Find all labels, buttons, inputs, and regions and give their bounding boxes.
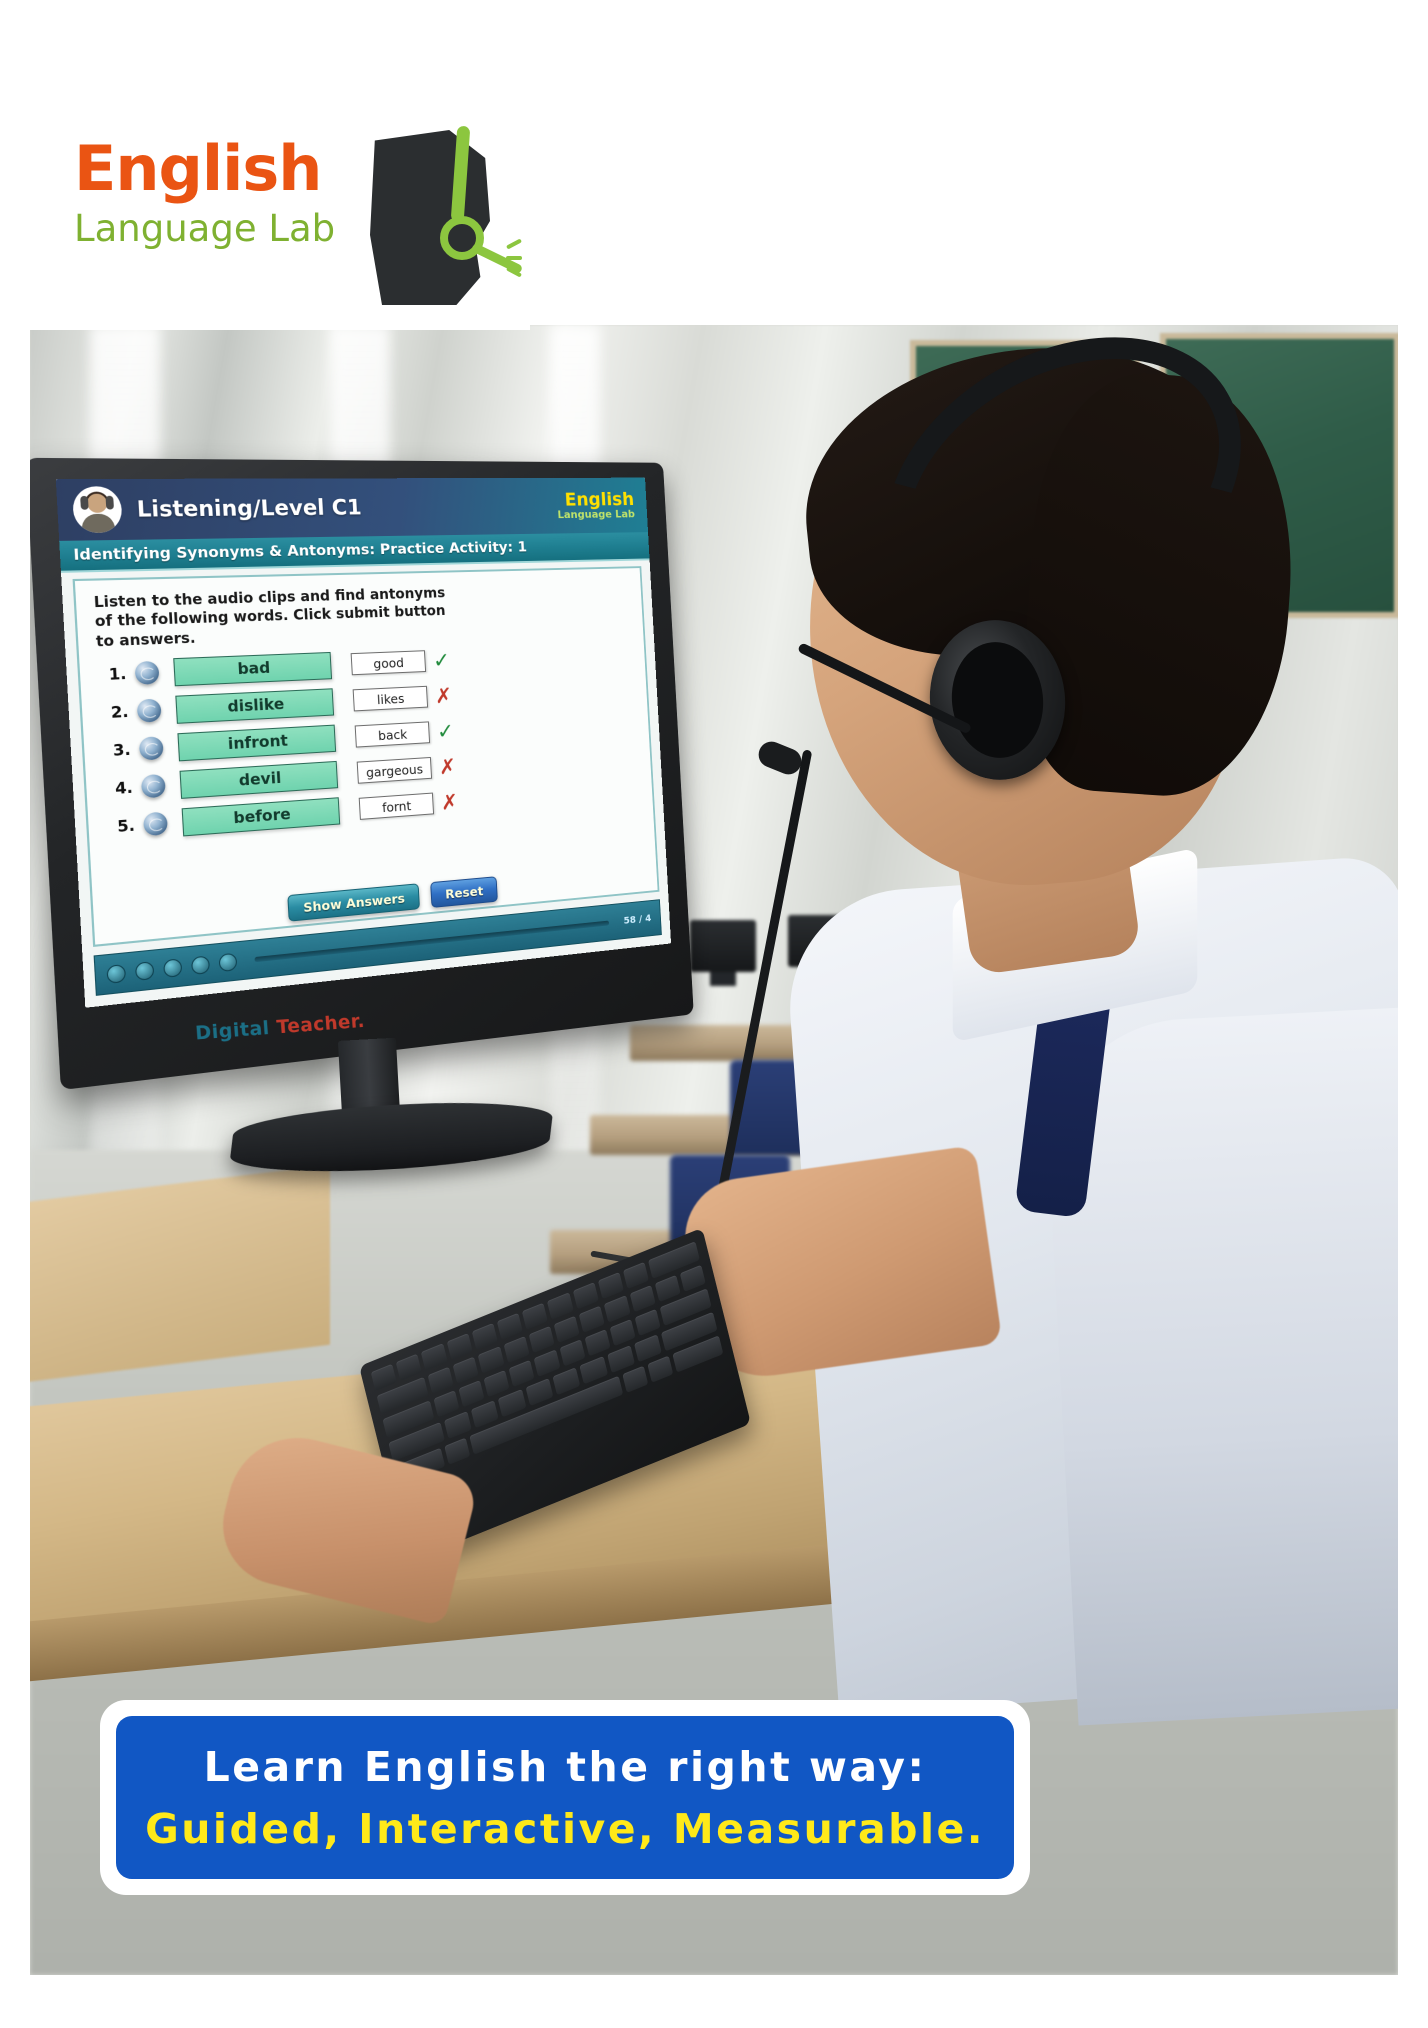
- tagline-line-2: Guided, Interactive, Measurable.: [145, 1805, 985, 1853]
- audio-play-globe-icon[interactable]: [143, 812, 168, 837]
- prompt-word: infront: [177, 724, 336, 761]
- player-progress-slider[interactable]: [254, 920, 608, 962]
- question-number: 3.: [102, 740, 132, 761]
- prompt-word: bad: [173, 652, 332, 686]
- tagline-banner-wrapper: Learn English the right way: Guided, Int…: [100, 1700, 1030, 1895]
- app-logo-line1: English: [556, 491, 634, 510]
- question-list: 1. bad good ✓ 2. dislike likes: [97, 636, 641, 847]
- monitor-screen: Listening/Level C1 English Language Lab …: [56, 478, 671, 1008]
- result-cross-icon: ✗: [439, 756, 457, 778]
- question-number: 2.: [100, 703, 130, 723]
- action-buttons: Show Answers Reset: [287, 876, 498, 922]
- app-logo-line2: Language Lab: [557, 509, 635, 520]
- poster-root: Listening/Level C1 English Language Lab …: [0, 0, 1428, 2028]
- result-check-icon: ✓: [437, 721, 455, 743]
- prompt-word: devil: [180, 761, 339, 799]
- student-figure: [630, 325, 1398, 1815]
- instruction-text: Listen to the audio clips and find anton…: [93, 584, 464, 652]
- app-header: Listening/Level C1 English Language Lab: [56, 478, 648, 541]
- player-play-icon[interactable]: [106, 964, 126, 984]
- question-number: 1.: [97, 665, 127, 685]
- answer-input[interactable]: likes: [353, 686, 428, 712]
- prompt-word: dislike: [175, 688, 334, 724]
- audio-play-globe-icon[interactable]: [141, 774, 166, 799]
- tagline-line-1: Learn English the right way:: [204, 1743, 927, 1791]
- page-title: Listening/Level C1: [136, 495, 362, 522]
- audio-play-globe-icon[interactable]: [137, 699, 162, 723]
- player-time-label: 58 / 4: [623, 913, 651, 926]
- show-answers-button[interactable]: Show Answers: [287, 883, 420, 921]
- answer-input[interactable]: back: [355, 722, 430, 748]
- answer-input[interactable]: good: [351, 651, 426, 676]
- result-cross-icon: ✗: [441, 792, 459, 814]
- question-number: 4.: [104, 778, 134, 799]
- result-cross-icon: ✗: [435, 686, 453, 708]
- player-pause-icon[interactable]: [135, 961, 154, 981]
- language-lab-app: Listening/Level C1 English Language Lab …: [56, 478, 671, 1008]
- desktop-monitor: Listening/Level C1 English Language Lab …: [44, 442, 721, 1067]
- answer-input[interactable]: fornt: [359, 793, 434, 820]
- prompt-word: before: [182, 797, 341, 836]
- avatar: [72, 486, 123, 533]
- result-check-icon: ✓: [433, 650, 451, 671]
- headset-microphone-icon: [755, 738, 806, 779]
- player-stop-icon[interactable]: [163, 958, 182, 978]
- player-record-icon[interactable]: [219, 952, 238, 971]
- activity-panel: Listen to the audio clips and find anton…: [73, 566, 660, 947]
- app-header-logo: English Language Lab: [556, 491, 635, 521]
- brand-logo-panel: English Language Lab: [30, 120, 530, 330]
- question-number: 5.: [106, 816, 136, 837]
- headset-head-logo-icon: [370, 130, 520, 305]
- audio-play-globe-icon[interactable]: [135, 661, 160, 685]
- answer-input[interactable]: gargeous: [357, 757, 432, 784]
- tagline-banner: Learn English the right way: Guided, Int…: [116, 1716, 1014, 1879]
- audio-play-globe-icon[interactable]: [139, 737, 164, 761]
- player-volume-icon[interactable]: [191, 955, 210, 975]
- reset-button[interactable]: Reset: [430, 876, 498, 908]
